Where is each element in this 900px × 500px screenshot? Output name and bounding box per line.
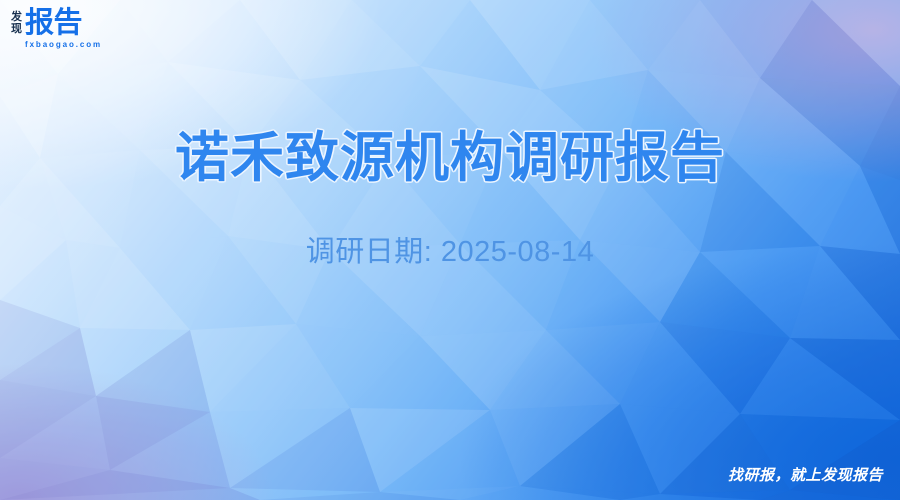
- cover-subtitle-container: 调研日期: 2025-08-14: [0, 232, 900, 272]
- cover-title-container: 诺禾致源机构调研报告: [0, 86, 900, 230]
- logo-wordmark: 报告: [25, 9, 102, 38]
- logo-mark-characters: 发 现: [11, 9, 22, 35]
- page-title: 诺禾致源机构调研报告: [175, 122, 725, 194]
- logo-url: fxbaogao.com: [25, 40, 102, 49]
- logo-text-group: 报告 fxbaogao.com: [25, 9, 102, 49]
- report-cover-slide: 发 现 报告 fxbaogao.com 诺禾致源机构调研报告 调研日期: 202…: [0, 0, 900, 500]
- logo-mark-line-2: 现: [11, 23, 22, 35]
- fxbaogao-logo[interactable]: 发 现 报告 fxbaogao.com: [11, 9, 102, 51]
- footer-tagline: 找研报，就上发现报告: [728, 466, 883, 486]
- logo-mark-line-1: 发: [11, 11, 22, 23]
- survey-date-subtitle: 调研日期: 2025-08-14: [306, 232, 594, 272]
